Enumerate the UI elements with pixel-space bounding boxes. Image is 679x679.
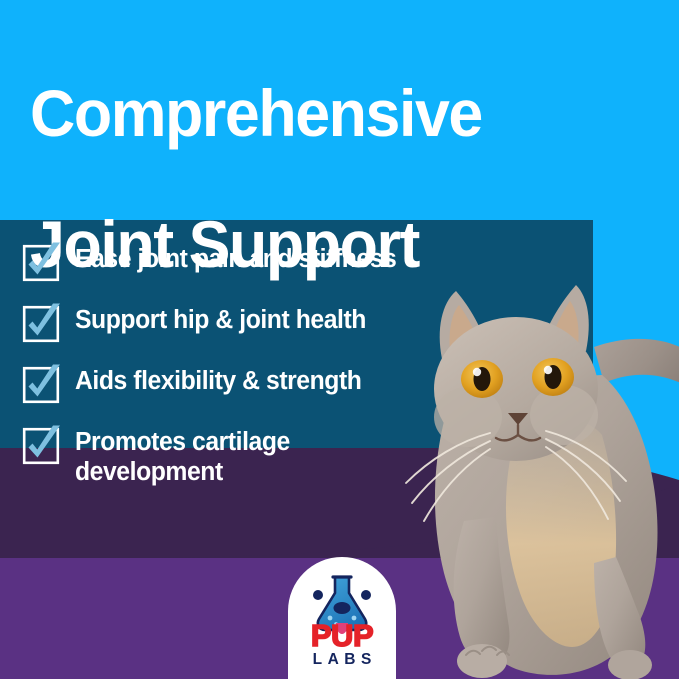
list-item: Promotes cartilage development (22, 426, 542, 488)
list-item: Ease joint pain and stiffness (22, 243, 542, 283)
checkbox-checked-icon (22, 366, 60, 404)
flask-ear-left (313, 590, 323, 600)
promo-banner: Comprehensive Joint Support Ease joint p… (0, 0, 679, 679)
list-item-label: Aids flexibility & strength (75, 365, 361, 397)
list-item-label: Promotes cartilage development (75, 426, 290, 488)
checkbox-checked-icon (22, 427, 60, 465)
flask-nose (334, 602, 351, 614)
headline-line-1: Comprehensive (30, 81, 619, 146)
benefits-list: Ease joint pain and stiffness Support hi… (22, 243, 542, 488)
checkbox-checked-icon (22, 305, 60, 343)
checkbox-checked-icon (22, 244, 60, 282)
logo-brand-secondary: LABS (288, 651, 396, 670)
logo-wordmark: PUP LABS (288, 621, 396, 670)
list-item-label: Ease joint pain and stiffness (75, 243, 396, 275)
list-item: Support hip & joint health (22, 304, 542, 344)
list-item-label: Support hip & joint health (75, 304, 366, 336)
logo-brand-primary: PUP (288, 621, 396, 650)
brand-logo: PUP LABS (288, 557, 396, 679)
list-item: Aids flexibility & strength (22, 365, 542, 405)
flask-ear-right (361, 590, 371, 600)
